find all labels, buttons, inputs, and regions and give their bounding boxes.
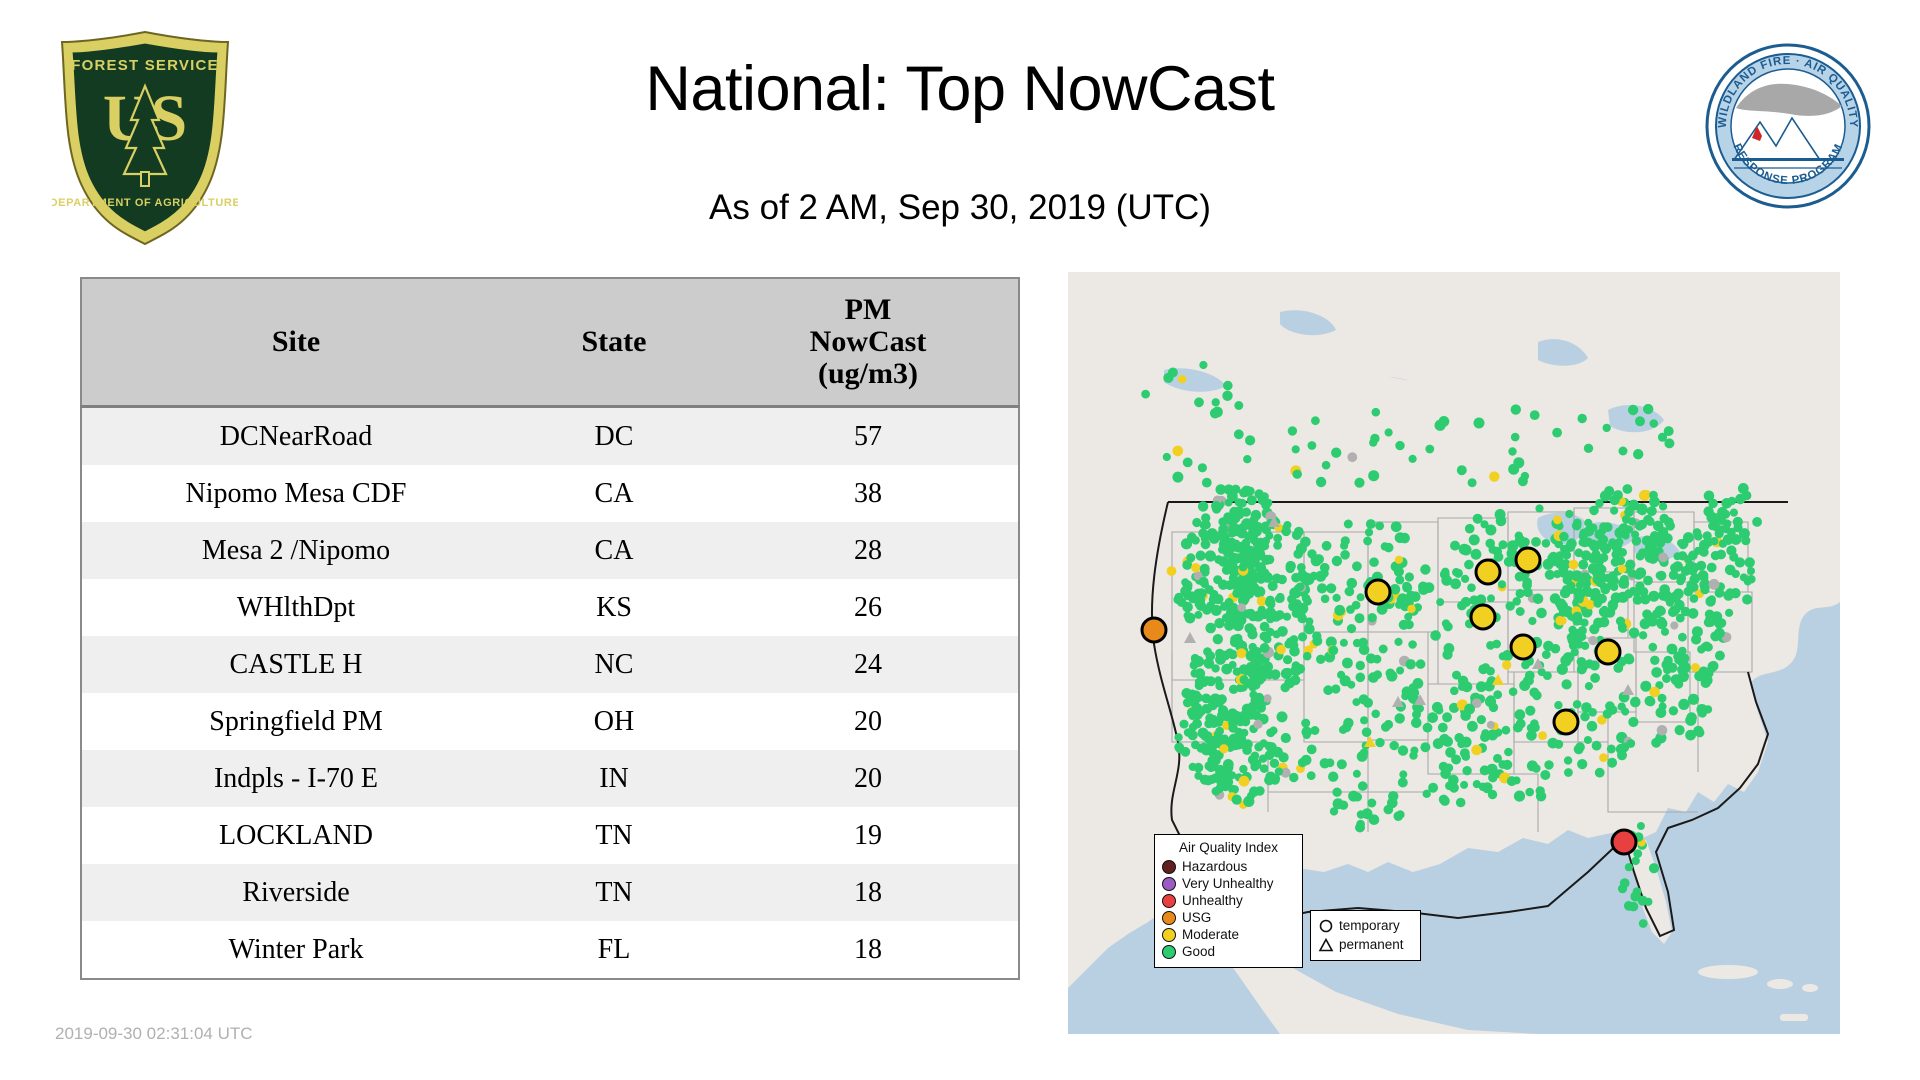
monitor-dot bbox=[1638, 548, 1647, 557]
legend-item-good: Good bbox=[1162, 943, 1295, 960]
monitor-dot bbox=[1375, 522, 1384, 531]
monitor-dot bbox=[1239, 563, 1248, 572]
monitor-dot bbox=[1203, 676, 1211, 684]
monitor-dot bbox=[1234, 509, 1245, 520]
monitor-dot bbox=[1191, 536, 1200, 545]
monitor-dot bbox=[1322, 461, 1331, 470]
monitor-dot bbox=[1353, 639, 1361, 647]
monitor-dot bbox=[1356, 661, 1365, 670]
legend-label: Moderate bbox=[1182, 927, 1239, 942]
monitor-dot bbox=[1560, 655, 1571, 666]
monitor-dot bbox=[1444, 764, 1453, 773]
legend-item-temporary: temporary bbox=[1318, 916, 1414, 935]
monitor-dot bbox=[1504, 748, 1513, 757]
monitor-dot bbox=[1516, 607, 1525, 616]
monitor-dot bbox=[1231, 485, 1240, 494]
monitor-dot bbox=[1595, 499, 1604, 508]
monitor-dot bbox=[1564, 768, 1573, 777]
monitor-dot bbox=[1249, 643, 1257, 651]
monitor-dot bbox=[1369, 439, 1377, 447]
monitor-dot bbox=[1536, 608, 1547, 619]
monitor-dot bbox=[1649, 491, 1658, 500]
legend-item-very-unhealthy: Very Unhealthy bbox=[1162, 875, 1295, 892]
aqi-swatch-icon bbox=[1162, 911, 1176, 925]
monitor-dot bbox=[1678, 633, 1687, 642]
monitor-dot bbox=[1522, 580, 1532, 590]
monitor-dot bbox=[1632, 536, 1642, 546]
monitor-dot bbox=[1347, 681, 1355, 689]
monitor-dot bbox=[1194, 772, 1202, 780]
legend-label: Very Unhealthy bbox=[1182, 876, 1274, 891]
monitor-dot bbox=[1260, 764, 1269, 773]
monitor-dot bbox=[1474, 418, 1485, 429]
monitor-dot bbox=[1229, 553, 1240, 564]
monitor-dot bbox=[1251, 761, 1260, 770]
monitor-dot bbox=[1297, 544, 1305, 552]
monitor-dot bbox=[1542, 650, 1551, 659]
monitor-dot bbox=[1593, 599, 1602, 608]
highlighted-site-marker[interactable] bbox=[1596, 640, 1620, 664]
monitor-dot bbox=[1647, 506, 1657, 516]
monitor-dot bbox=[1430, 630, 1441, 641]
monitor-dot bbox=[1323, 685, 1333, 695]
monitor-dot bbox=[1234, 401, 1243, 410]
monitor-dot bbox=[1202, 704, 1210, 712]
aqi-legend: Air Quality Index HazardousVery Unhealth… bbox=[1154, 834, 1303, 968]
monitor-dot bbox=[1483, 785, 1491, 793]
cell-site: Nipomo Mesa CDF bbox=[81, 465, 510, 522]
monitor-dot bbox=[1244, 533, 1252, 541]
monitor-dot bbox=[1243, 455, 1251, 463]
monitor-dot bbox=[1691, 663, 1700, 672]
monitor-dot bbox=[1399, 620, 1409, 630]
monitor-dot bbox=[1200, 564, 1210, 574]
monitor-dot bbox=[1352, 698, 1360, 706]
monitor-dot bbox=[1249, 709, 1258, 718]
monitor-dot bbox=[1532, 691, 1542, 701]
monitor-dot bbox=[1358, 781, 1368, 791]
monitor-dot bbox=[1307, 745, 1317, 755]
cell-site: Indpls - I-70 E bbox=[81, 750, 510, 807]
table-row: Winter ParkFL18 bbox=[81, 921, 1019, 979]
monitor-dot bbox=[1580, 619, 1588, 627]
monitor-dot bbox=[1686, 712, 1697, 723]
monitor-dot bbox=[1265, 670, 1275, 680]
monitor-dot bbox=[1508, 464, 1519, 475]
footer-timestamp: 2019-09-30 02:31:04 UTC bbox=[55, 1024, 253, 1044]
cell-state: TN bbox=[510, 864, 718, 921]
monitor-dot bbox=[1212, 398, 1220, 406]
monitor-dot bbox=[1328, 646, 1338, 656]
monitor-dot bbox=[1721, 510, 1730, 519]
monitor-dot bbox=[1184, 612, 1192, 620]
monitor-dot bbox=[1228, 719, 1237, 728]
monitor-dot bbox=[1322, 541, 1332, 551]
monitor-dot bbox=[1625, 655, 1634, 664]
table-row: Mesa 2 /NipomoCA28 bbox=[81, 522, 1019, 579]
monitor-dot bbox=[1443, 622, 1452, 631]
monitor-dot bbox=[1191, 563, 1200, 572]
cell-state: KS bbox=[510, 579, 718, 636]
legend-label: Good bbox=[1182, 944, 1215, 959]
monitor-dot bbox=[1410, 747, 1418, 755]
monitor-dot bbox=[1650, 419, 1659, 428]
monitor-dot bbox=[1731, 534, 1742, 545]
monitor-dot bbox=[1725, 565, 1736, 576]
monitor-dot bbox=[1440, 734, 1449, 743]
highlighted-site-marker[interactable] bbox=[1471, 605, 1495, 629]
monitor-dot bbox=[1192, 518, 1201, 527]
monitor-dot bbox=[1310, 726, 1319, 735]
monitor-dot bbox=[1245, 589, 1255, 599]
monitor-dot bbox=[1448, 775, 1459, 786]
monitor-dot bbox=[1303, 652, 1312, 661]
monitor-dot bbox=[1390, 741, 1399, 750]
monitor-dot bbox=[1357, 593, 1365, 601]
monitor-dot bbox=[1206, 601, 1215, 610]
monitor-dot bbox=[1558, 616, 1567, 625]
monitor-dot bbox=[1676, 614, 1685, 623]
monitor-dot bbox=[1402, 583, 1412, 593]
monitor-dot bbox=[1222, 391, 1232, 401]
monitor-dot bbox=[1469, 534, 1480, 545]
monitor-dot bbox=[1368, 613, 1377, 622]
monitor-dot bbox=[1634, 571, 1643, 580]
monitor-dot bbox=[1705, 615, 1714, 624]
monitor-dot bbox=[1366, 653, 1376, 663]
highlighted-site-marker[interactable] bbox=[1516, 548, 1540, 572]
monitor-dot bbox=[1399, 533, 1410, 544]
monitor-dot bbox=[1484, 681, 1495, 692]
legend-label: Unhealthy bbox=[1182, 893, 1243, 908]
monitor-dot bbox=[1457, 601, 1467, 611]
monitor-dot bbox=[1425, 445, 1434, 454]
monitor-dot bbox=[1254, 543, 1265, 554]
monitor-dot bbox=[1239, 776, 1250, 787]
monitor-dot bbox=[1579, 529, 1589, 539]
monitor-dot bbox=[1747, 567, 1755, 575]
monitor-dot bbox=[1347, 624, 1356, 633]
monitor-dot bbox=[1735, 494, 1745, 504]
monitor-dot bbox=[1582, 580, 1591, 589]
monitor-dot bbox=[1752, 517, 1762, 527]
monitor-dot bbox=[1362, 727, 1372, 737]
monitor-dot bbox=[1185, 691, 1193, 699]
monitor-dot bbox=[1526, 677, 1534, 685]
monitor-dot bbox=[1527, 760, 1538, 771]
monitor-dot bbox=[1578, 560, 1588, 570]
monitor-dot bbox=[1394, 638, 1402, 646]
monitor-dot bbox=[1235, 498, 1243, 506]
monitor-dot bbox=[1588, 553, 1598, 563]
monitor-dot bbox=[1331, 448, 1341, 458]
monitor-dot bbox=[1462, 766, 1471, 775]
monitor-dot bbox=[1340, 542, 1348, 550]
table-row: Nipomo Mesa CDFCA38 bbox=[81, 465, 1019, 522]
column-header-pm-nowcast: PM NowCast (ug/m3) bbox=[718, 278, 1019, 407]
monitor-dot bbox=[1742, 594, 1752, 604]
monitor-dot bbox=[1368, 470, 1379, 481]
monitor-dot bbox=[1177, 598, 1186, 607]
monitor-dot bbox=[1450, 541, 1460, 551]
monitor-dot bbox=[1141, 390, 1150, 399]
monitor-dot bbox=[1258, 494, 1269, 505]
monitor-dot bbox=[1167, 566, 1177, 576]
monitor-dot bbox=[1199, 361, 1207, 369]
cell-state: OH bbox=[510, 693, 718, 750]
monitor-dot bbox=[1191, 669, 1199, 677]
highlighted-site-marker[interactable] bbox=[1612, 830, 1636, 854]
monitor-dot bbox=[1360, 716, 1368, 724]
monitor-dot bbox=[1599, 753, 1608, 762]
monitor-dot bbox=[1212, 407, 1223, 418]
cell-state: FL bbox=[510, 921, 718, 979]
cell-state: NC bbox=[510, 636, 718, 693]
monitor-dot bbox=[1214, 555, 1223, 564]
monitor-dot bbox=[1199, 577, 1209, 587]
monitor-dot bbox=[1573, 617, 1581, 625]
highlighted-site-marker[interactable] bbox=[1476, 560, 1500, 584]
monitor-dot bbox=[1664, 426, 1674, 436]
monitor-dot bbox=[1577, 759, 1587, 769]
monitor-dot bbox=[1603, 522, 1613, 532]
highlighted-site-marker[interactable] bbox=[1554, 710, 1578, 734]
monitor-dot bbox=[1416, 659, 1426, 669]
monitor-dot bbox=[1649, 687, 1660, 698]
monitor-dot bbox=[1246, 580, 1255, 589]
monitor-dot bbox=[1214, 676, 1222, 684]
monitor-dot bbox=[1538, 731, 1547, 740]
table-row: Springfield PMOH20 bbox=[81, 693, 1019, 750]
monitor-dot bbox=[1725, 609, 1733, 617]
monitor-dot bbox=[1238, 739, 1248, 749]
monitor-dot bbox=[1436, 598, 1444, 606]
monitor-dot bbox=[1354, 478, 1364, 488]
monitor-dot bbox=[1450, 687, 1459, 696]
cell-site: WHlthDpt bbox=[81, 579, 510, 636]
monitor-dot bbox=[1648, 591, 1659, 602]
monitor-dot bbox=[1355, 823, 1365, 833]
monitor-dot bbox=[1262, 537, 1270, 545]
monitor-dot bbox=[1576, 595, 1584, 603]
monitor-dot bbox=[1265, 597, 1275, 607]
monitor-dot bbox=[1619, 447, 1628, 456]
monitor-dot bbox=[1577, 657, 1587, 667]
monitor-dot bbox=[1212, 787, 1221, 796]
cell-pm-nowcast: 57 bbox=[718, 407, 1019, 466]
monitor-dot bbox=[1468, 478, 1477, 487]
monitor-dot bbox=[1516, 719, 1526, 729]
monitor-dot bbox=[1395, 575, 1404, 584]
monitor-dot bbox=[1512, 597, 1521, 606]
aqi-swatch-icon bbox=[1162, 894, 1176, 908]
monitor-dot bbox=[1245, 435, 1255, 445]
monitor-dot bbox=[1194, 693, 1203, 702]
monitor-dot bbox=[1599, 607, 1609, 617]
monitor-dot bbox=[1385, 428, 1393, 436]
monitor-dot bbox=[1659, 502, 1667, 510]
legend-item-moderate: Moderate bbox=[1162, 926, 1295, 943]
monitor-dot bbox=[1543, 641, 1554, 652]
monitor-dot bbox=[1670, 621, 1678, 629]
monitor-dot bbox=[1316, 477, 1326, 487]
monitor-dot bbox=[1394, 811, 1404, 821]
table-row: DCNearRoadDC57 bbox=[81, 407, 1019, 466]
monitor-dot bbox=[1640, 681, 1651, 692]
symbol-legend: temporary permanent bbox=[1310, 910, 1421, 961]
legend-label-temporary: temporary bbox=[1339, 918, 1400, 933]
monitor-dot bbox=[1196, 588, 1206, 598]
monitor-dot bbox=[1704, 705, 1712, 713]
monitor-dot bbox=[1303, 731, 1311, 739]
monitor-dot bbox=[1678, 699, 1689, 710]
monitor-dot bbox=[1587, 721, 1598, 732]
monitor-dot bbox=[1411, 718, 1422, 729]
monitor-dot bbox=[1441, 568, 1449, 576]
monitor-dot bbox=[1442, 712, 1452, 722]
monitor-dot bbox=[1553, 570, 1561, 578]
circle-symbol-icon bbox=[1318, 918, 1334, 934]
cell-state: CA bbox=[510, 465, 718, 522]
highlighted-site-marker[interactable] bbox=[1142, 618, 1166, 642]
monitor-dot bbox=[1540, 770, 1550, 780]
monitor-dot bbox=[1214, 734, 1225, 745]
monitor-dot bbox=[1548, 552, 1558, 562]
monitor-dot bbox=[1216, 484, 1227, 495]
monitor-dot bbox=[1489, 471, 1499, 481]
monitor-dot bbox=[1289, 587, 1300, 598]
monitor-dot bbox=[1592, 741, 1602, 751]
monitor-dot bbox=[1181, 578, 1189, 586]
monitor-dot bbox=[1247, 629, 1257, 639]
legend-label: USG bbox=[1182, 910, 1211, 925]
monitor-dot bbox=[1637, 506, 1645, 514]
monitor-dot bbox=[1511, 433, 1520, 442]
air-quality-map[interactable]: Air Quality Index HazardousVery Unhealth… bbox=[1068, 272, 1840, 1034]
monitor-dot bbox=[1531, 537, 1541, 547]
monitor-dot bbox=[1656, 571, 1666, 581]
monitor-dot bbox=[1635, 416, 1645, 426]
monitor-dot bbox=[1677, 573, 1687, 583]
monitor-dot bbox=[1611, 557, 1620, 566]
monitor-dot bbox=[1600, 583, 1609, 592]
monitor-dot bbox=[1460, 748, 1470, 758]
monitor-dot bbox=[1704, 491, 1715, 502]
monitor-dot bbox=[1669, 605, 1679, 615]
monitor-dot bbox=[1701, 678, 1711, 688]
monitor-dot bbox=[1239, 765, 1247, 773]
monitor-dot bbox=[1590, 673, 1600, 683]
monitor-dot bbox=[1643, 404, 1653, 414]
highlighted-site-marker[interactable] bbox=[1511, 635, 1535, 659]
monitor-dot bbox=[1294, 527, 1304, 537]
monitor-dot bbox=[1233, 668, 1241, 676]
monitor-dot bbox=[1564, 756, 1572, 764]
monitor-dot bbox=[1578, 414, 1587, 423]
cell-pm-nowcast: 20 bbox=[718, 750, 1019, 807]
monitor-dot bbox=[1690, 594, 1699, 603]
monitor-dot bbox=[1321, 595, 1330, 604]
cell-site: CASTLE H bbox=[81, 636, 510, 693]
monitor-dot bbox=[1509, 687, 1518, 696]
monitor-dot bbox=[1217, 530, 1228, 541]
monitor-dot bbox=[1247, 792, 1255, 800]
monitor-dot bbox=[1391, 521, 1402, 532]
monitor-dot bbox=[1228, 527, 1237, 536]
monitor-dot bbox=[1457, 465, 1467, 475]
monitor-dot bbox=[1632, 857, 1640, 865]
highlighted-site-marker[interactable] bbox=[1366, 580, 1390, 604]
monitor-dot bbox=[1409, 455, 1417, 463]
monitor-dot bbox=[1633, 595, 1643, 605]
monitor-dot bbox=[1585, 682, 1593, 690]
monitor-dot bbox=[1340, 550, 1350, 560]
monitor-dot bbox=[1575, 640, 1584, 649]
cell-site: Riverside bbox=[81, 864, 510, 921]
monitor-dot bbox=[1664, 517, 1674, 527]
monitor-dot bbox=[1625, 525, 1634, 534]
monitor-dot bbox=[1507, 540, 1518, 551]
monitor-dot bbox=[1660, 590, 1669, 599]
monitor-dot bbox=[1224, 782, 1232, 790]
monitor-dot bbox=[1618, 565, 1627, 574]
monitor-dot bbox=[1471, 745, 1482, 756]
monitor-dot bbox=[1733, 517, 1743, 527]
monitor-dot bbox=[1328, 772, 1338, 782]
monitor-dot bbox=[1290, 675, 1300, 685]
monitor-dot bbox=[1584, 736, 1592, 744]
monitor-dot bbox=[1459, 544, 1470, 555]
monitor-dot bbox=[1233, 620, 1244, 631]
monitor-dot bbox=[1658, 553, 1668, 563]
cell-site: Mesa 2 /Nipomo bbox=[81, 522, 510, 579]
monitor-dot bbox=[1210, 715, 1218, 723]
monitor-dot bbox=[1507, 776, 1517, 786]
monitor-dot bbox=[1688, 608, 1699, 619]
monitor-dot bbox=[1356, 673, 1366, 683]
monitor-dot bbox=[1585, 659, 1594, 668]
monitor-dot bbox=[1334, 605, 1345, 616]
monitor-dot bbox=[1254, 693, 1264, 703]
monitor-dot bbox=[1588, 540, 1598, 550]
table-row: RiversideTN18 bbox=[81, 864, 1019, 921]
monitor-dot bbox=[1649, 863, 1659, 873]
cell-site: Springfield PM bbox=[81, 693, 510, 750]
monitor-dot bbox=[1293, 470, 1302, 479]
monitor-dot bbox=[1499, 540, 1508, 549]
monitor-dot bbox=[1229, 661, 1237, 669]
monitor-dot bbox=[1673, 588, 1684, 599]
monitor-dot bbox=[1254, 720, 1263, 729]
monitor-dot bbox=[1467, 583, 1476, 592]
monitor-dot bbox=[1498, 580, 1506, 588]
column-header-site: Site bbox=[81, 278, 510, 407]
monitor-dot bbox=[1525, 788, 1534, 797]
monitor-dot bbox=[1213, 634, 1223, 644]
monitor-dot bbox=[1427, 712, 1438, 723]
monitor-dot bbox=[1409, 688, 1419, 698]
monitor-dot bbox=[1562, 679, 1572, 689]
monitor-dot bbox=[1637, 822, 1645, 830]
monitor-dot bbox=[1625, 863, 1633, 871]
monitor-dot bbox=[1560, 545, 1568, 553]
monitor-dot bbox=[1661, 628, 1669, 636]
monitor-dot bbox=[1456, 798, 1466, 808]
monitor-dot bbox=[1281, 527, 1291, 537]
monitor-dot bbox=[1182, 560, 1192, 570]
monitor-dot bbox=[1371, 710, 1380, 719]
monitor-dot bbox=[1493, 690, 1502, 699]
